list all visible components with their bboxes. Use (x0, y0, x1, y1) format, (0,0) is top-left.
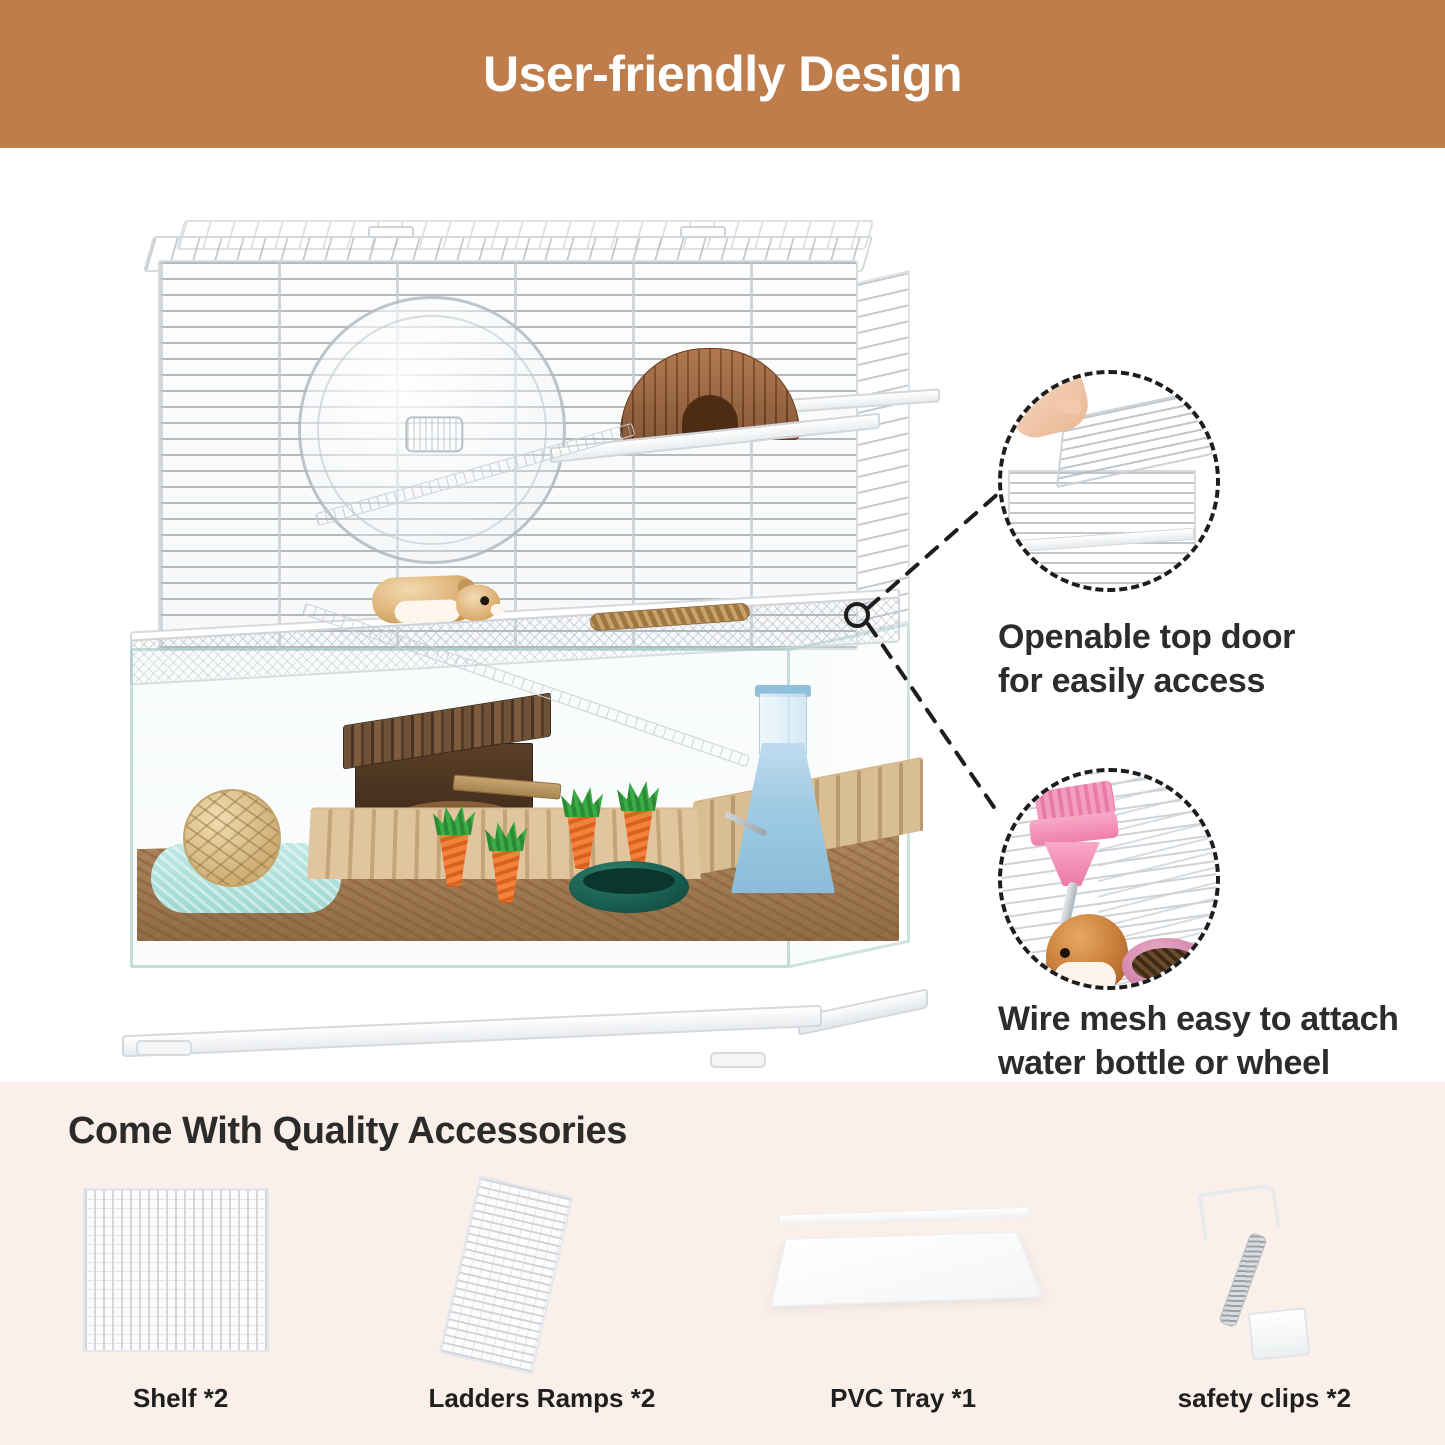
carrot-toy (433, 805, 475, 887)
callout-line-2: water bottle or wheel (998, 1042, 1428, 1086)
inset-wire-mesh-attach-image (1002, 772, 1216, 986)
callout-line-1: Wire mesh easy to attach (998, 998, 1428, 1042)
tank-front-glass-panel (130, 648, 790, 968)
carrot-leaves (433, 805, 475, 835)
inset-hamster-eye (1060, 948, 1070, 958)
accessory-art (392, 1178, 692, 1368)
log-hideout-house (343, 709, 551, 817)
inset-wire-mesh-attach (998, 768, 1220, 990)
water-bottle (729, 693, 837, 903)
callout-line-2: for easily access (998, 660, 1418, 704)
wheel-hub (405, 416, 463, 452)
clip-wire-hook (1198, 1183, 1282, 1239)
carrot-toy (561, 787, 603, 869)
accessory-item-safety-clips: safety clips *2 (1084, 1178, 1445, 1428)
tank-foot (136, 1040, 192, 1056)
callout-text-wire-mesh-attach: Wire mesh easy to attach water bottle or… (998, 998, 1428, 1085)
accessory-item-ladders-ramps: Ladders Ramps *2 (361, 1178, 722, 1428)
tank-base-front (122, 1005, 822, 1058)
accessory-art (753, 1178, 1053, 1368)
page-title: User-friendly Design (483, 49, 962, 99)
carrot-body (489, 843, 523, 903)
inset-openable-top-door-image (1002, 374, 1216, 588)
pvc-tray-icon (770, 1232, 1044, 1307)
clip-clamp (1248, 1307, 1311, 1361)
accessory-item-shelf: Shelf *2 (0, 1178, 361, 1428)
carrot-leaves (561, 787, 603, 817)
hero-section: Openable top door for easily access Wire… (0, 148, 1445, 1082)
accessory-label: PVC Tray *1 (830, 1383, 976, 1414)
infographic-page: User-friendly Design (0, 0, 1445, 1445)
accessory-label: Shelf *2 (133, 1383, 228, 1414)
inset-hamster-belly (1054, 962, 1116, 990)
wicker-chew-ball (183, 789, 281, 887)
accessory-art (1114, 1178, 1414, 1368)
accessory-label: Ladders Ramps *2 (428, 1383, 655, 1414)
bowl-inner (583, 868, 675, 894)
carrot-toy (617, 781, 659, 863)
carrot-body (437, 827, 471, 887)
accessory-label: safety clips *2 (1178, 1383, 1351, 1414)
accessories-section: Come With Quality Accessories Shelf *2 L… (0, 1082, 1445, 1445)
ladder-ramp-mesh-icon (439, 1176, 573, 1375)
accessories-title: Come With Quality Accessories (68, 1110, 627, 1153)
lid-latch-right-icon (680, 226, 726, 238)
carrot-toy (485, 821, 527, 903)
carrot-body (621, 803, 655, 863)
safety-clip-icon (1204, 1184, 1334, 1364)
shelf-mesh-panel-icon (83, 1188, 269, 1352)
tank-foot (710, 1052, 766, 1068)
accessory-art (31, 1178, 331, 1368)
pvc-tray-lip-icon (777, 1207, 1032, 1225)
accessory-item-pvc-tray: PVC Tray *1 (723, 1178, 1084, 1428)
lid-latch-left-icon (368, 226, 414, 238)
product-glass-tank (130, 618, 920, 1038)
carrot-leaves (617, 781, 659, 811)
inset-openable-top-door (998, 370, 1220, 592)
callout-line-1: Openable top door (998, 616, 1418, 660)
hamster-head (456, 584, 501, 622)
green-ceramic-food-bowl (569, 861, 689, 913)
callout-text-openable-top-door: Openable top door for easily access (998, 616, 1418, 703)
carrot-body (565, 809, 599, 869)
food-mix (1132, 948, 1200, 982)
accessories-grid: Shelf *2 Ladders Ramps *2 PVC Tray *1 (0, 1178, 1445, 1428)
cage-right-side-panel (858, 270, 910, 634)
exercise-wheel (298, 296, 566, 564)
carrot-leaves (485, 821, 527, 851)
bottle-label (753, 749, 819, 775)
header-band: User-friendly Design (0, 0, 1445, 148)
